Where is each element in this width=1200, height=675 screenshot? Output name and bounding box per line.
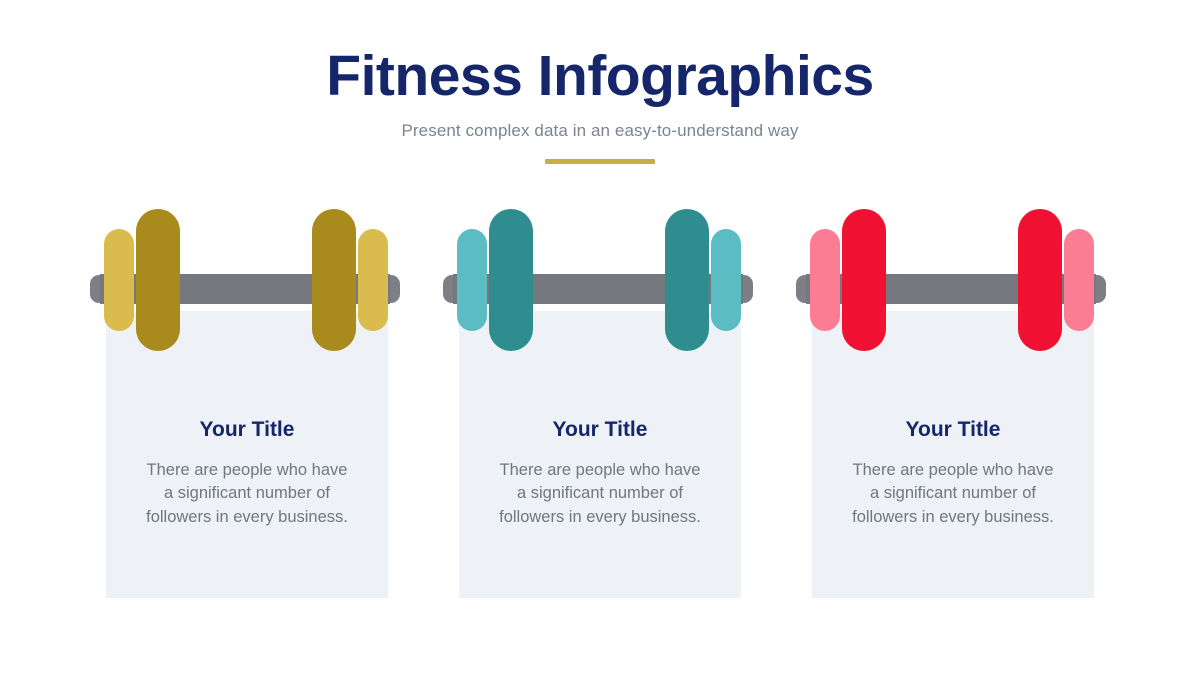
dumbbell-plate-inner-left-3: [842, 209, 886, 351]
page-title: Fitness Infographics: [0, 46, 1200, 108]
page-subtitle: Present complex data in an easy-to-under…: [0, 121, 1200, 141]
dumbbell-plate-outer-right-1: [358, 229, 388, 331]
slide-header: Fitness Infographics Present complex dat…: [0, 46, 1200, 164]
card-title-1: Your Title: [106, 417, 388, 442]
infographic-column-1[interactable]: Your Title There are people who have a s…: [92, 196, 398, 616]
card-text-2: There are people who have a significant …: [498, 459, 703, 529]
infographic-column-3[interactable]: Your Title There are people who have a s…: [798, 196, 1104, 616]
card-text-3: There are people who have a significant …: [851, 459, 1056, 529]
dumbbell-plate-outer-left-1: [104, 229, 134, 331]
slide-canvas: Fitness Infographics Present complex dat…: [0, 0, 1200, 675]
card-title-3: Your Title: [812, 417, 1094, 442]
dumbbell-plate-outer-right-2: [711, 229, 741, 331]
infographic-column-2[interactable]: Your Title There are people who have a s…: [445, 196, 751, 616]
dumbbell-plate-inner-left-1: [136, 209, 180, 351]
card-title-2: Your Title: [459, 417, 741, 442]
dumbbell-plate-inner-right-2: [665, 209, 709, 351]
card-text-1: There are people who have a significant …: [145, 459, 350, 529]
dumbbell-icon-3: [798, 196, 1104, 366]
dumbbell-plate-inner-left-2: [489, 209, 533, 351]
dumbbell-plate-outer-left-2: [457, 229, 487, 331]
infographic-columns: Your Title There are people who have a s…: [0, 196, 1200, 616]
dumbbell-plate-outer-right-3: [1064, 229, 1094, 331]
dumbbell-plate-inner-right-3: [1018, 209, 1062, 351]
dumbbell-plate-outer-left-3: [810, 229, 840, 331]
dumbbell-icon-2: [445, 196, 751, 366]
dumbbell-plate-inner-right-1: [312, 209, 356, 351]
accent-divider: [545, 159, 655, 164]
dumbbell-icon-1: [92, 196, 398, 366]
